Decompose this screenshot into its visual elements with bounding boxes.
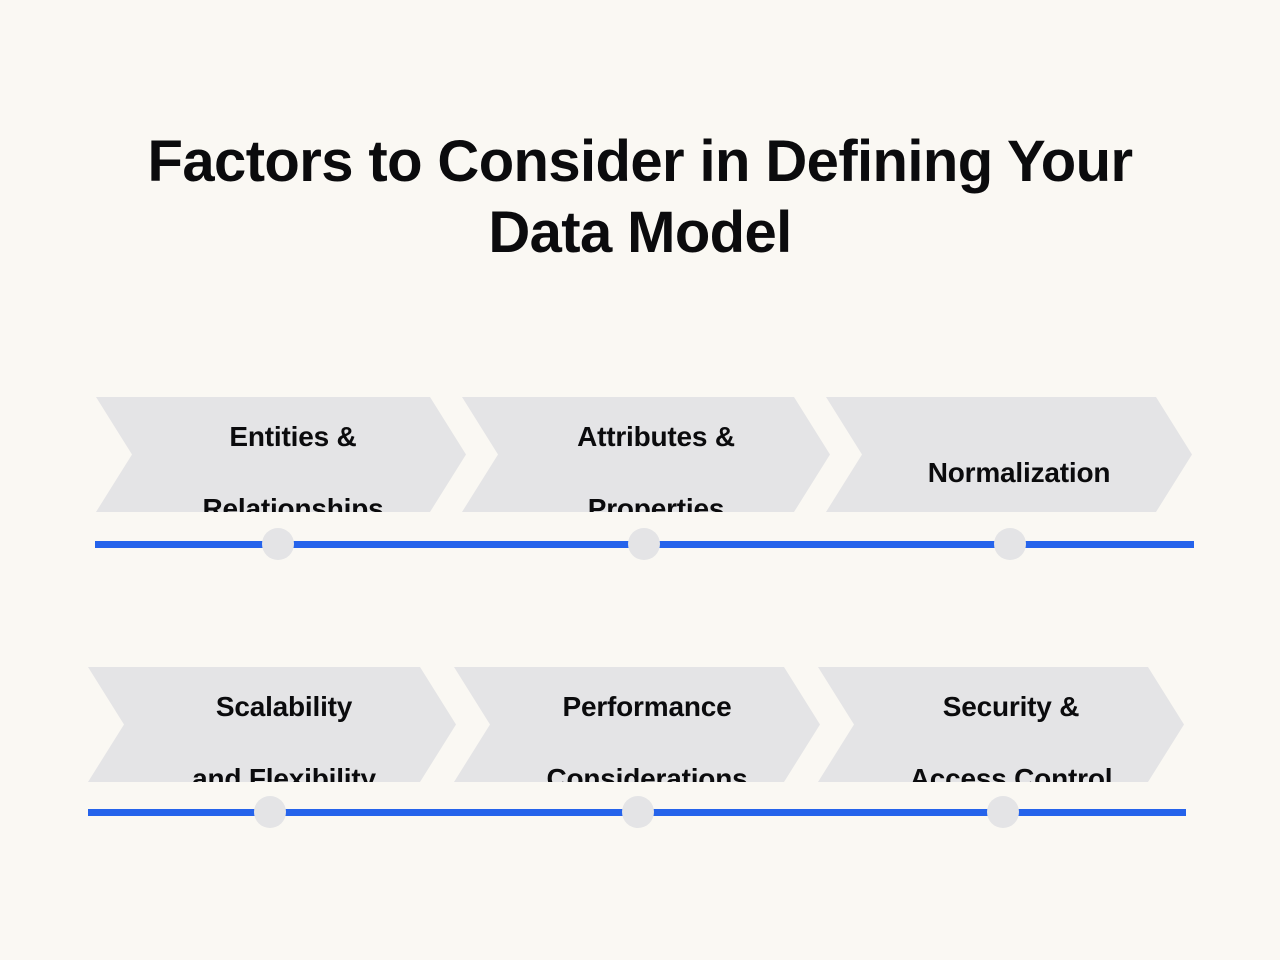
- chevron-step-security-access-control[interactable]: Security & Access Control: [818, 667, 1184, 782]
- chevron-step-attributes-properties[interactable]: Attributes & Properties: [462, 397, 830, 512]
- timeline-node-row-1-step-3[interactable]: [994, 528, 1026, 560]
- chevron-label-line-2: Access Control: [910, 763, 1113, 794]
- page-title-line-2: Data Model: [140, 197, 1140, 268]
- timeline-node-row-2-step-1[interactable]: [254, 796, 286, 828]
- chevron-label: Normalization: [914, 419, 1125, 491]
- chevron-group-row-1: Entities & Relationships Attributes & Pr…: [0, 397, 1280, 512]
- chevron-step-performance-considerations[interactable]: Performance Considerations: [454, 667, 820, 782]
- chevron-label-line-2: Relationships: [203, 493, 384, 524]
- chevron-label-line-1: Entities &: [229, 421, 356, 452]
- timeline-node-row-1-step-1[interactable]: [262, 528, 294, 560]
- page-title: Factors to Consider in Defining Your Dat…: [140, 126, 1140, 268]
- chevron-label: Performance Considerations: [532, 653, 761, 797]
- chevron-label-line-2: Considerations: [546, 763, 747, 794]
- chevron-label: Security & Access Control: [896, 653, 1127, 797]
- chevron-label-line-2: Properties: [588, 493, 725, 524]
- chevron-label: Attributes & Properties: [563, 383, 749, 527]
- page-title-line-1: Factors to Consider in Defining Your: [140, 126, 1140, 197]
- chevron-label-line-1: Security &: [943, 691, 1080, 722]
- chevron-step-scalability-flexibility[interactable]: Scalability and Flexibility: [88, 667, 456, 782]
- chevron-step-normalization[interactable]: Normalization: [826, 397, 1192, 512]
- chevron-step-entities-relationships[interactable]: Entities & Relationships: [96, 397, 466, 512]
- timeline-node-row-2-step-2[interactable]: [622, 796, 654, 828]
- slide-canvas: Factors to Consider in Defining Your Dat…: [0, 0, 1280, 960]
- chevron-group-row-2: Scalability and Flexibility Performance …: [0, 667, 1280, 782]
- chevron-label-line-1: Scalability: [216, 691, 352, 722]
- chevron-label-line-1: Attributes &: [577, 421, 735, 452]
- chevron-label-line-1: Performance: [562, 691, 731, 722]
- chevron-label: Entities & Relationships: [189, 383, 398, 527]
- timeline-node-row-2-step-3[interactable]: [987, 796, 1019, 828]
- process-row-2: Scalability and Flexibility Performance …: [0, 667, 1280, 782]
- chevron-label: Scalability and Flexibility: [178, 653, 390, 797]
- chevron-label-line-2: and Flexibility: [192, 763, 376, 794]
- chevron-label-line-1: Normalization: [928, 457, 1111, 488]
- process-row-1: Entities & Relationships Attributes & Pr…: [0, 397, 1280, 512]
- timeline-node-row-1-step-2[interactable]: [628, 528, 660, 560]
